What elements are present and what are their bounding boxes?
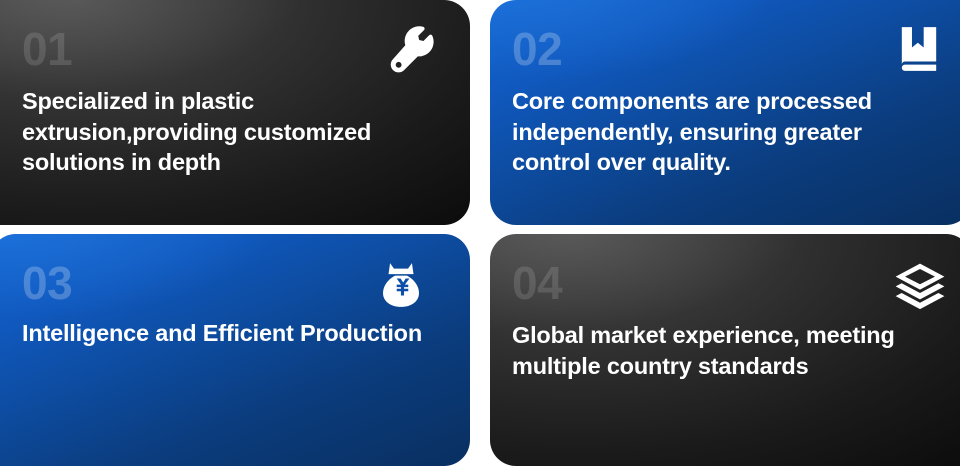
feature-card-01[interactable]: 01 Specialized in plastic extrusion,prov… [0,0,470,225]
layers-stack-icon [892,262,948,314]
card-title: Core components are processed independen… [512,86,942,178]
card-number: 02 [512,26,942,72]
money-bag-yen-icon [376,258,426,312]
card-number: 04 [512,260,942,306]
feature-card-02[interactable]: 02 Core components are processed indepen… [490,0,960,225]
card-title: Specialized in plastic extrusion,providi… [22,86,440,178]
feature-card-04[interactable]: 04 Global market experience, meeting mul… [490,234,960,466]
wrench-icon [388,26,440,78]
feature-card-03[interactable]: 03 Intelligence and Efficient Production [0,234,470,466]
card-title: Global market experience, meeting multip… [512,320,942,381]
card-title: Intelligence and Efficient Production [22,318,440,349]
feature-card-grid: 01 Specialized in plastic extrusion,prov… [0,0,960,459]
book-bookmark-icon [894,22,944,76]
card-number: 01 [22,26,440,72]
